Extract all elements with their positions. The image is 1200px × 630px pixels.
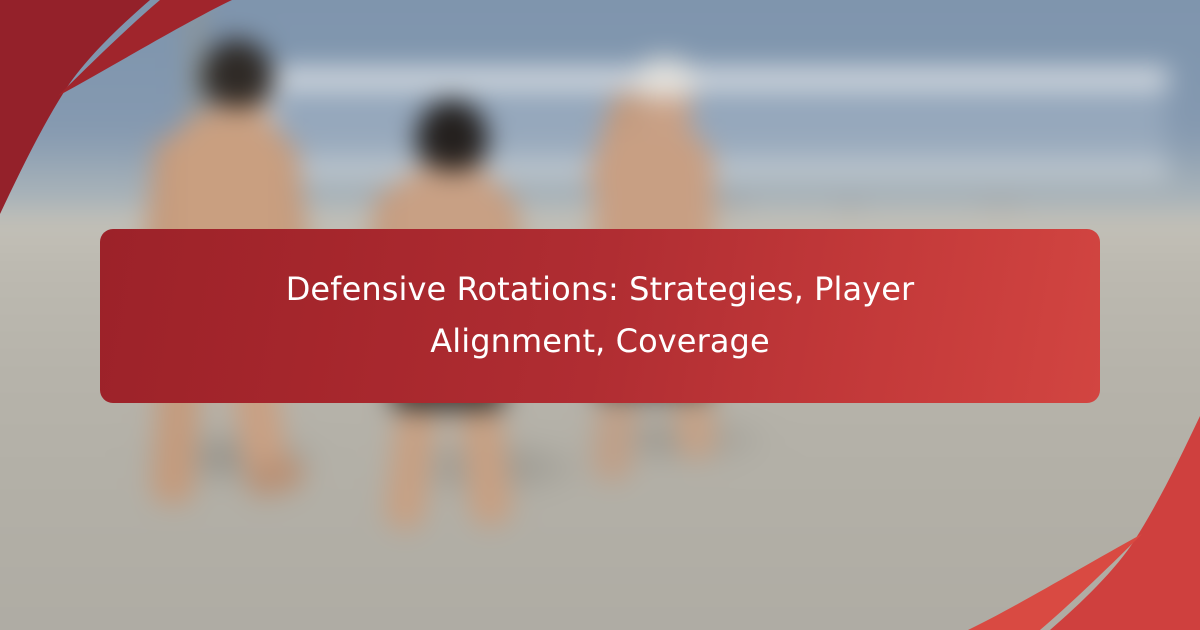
page-title: Defensive Rotations: Strategies, Player … <box>250 264 950 368</box>
player-right-cap <box>634 58 696 98</box>
volleyball-net-mesh <box>276 89 1166 164</box>
distant-beach-objects <box>700 192 1130 218</box>
hero-card: Defensive Rotations: Strategies, Player … <box>0 0 1200 630</box>
title-banner: Defensive Rotations: Strategies, Player … <box>100 229 1100 403</box>
volleyball-net-top-tape <box>258 68 1168 89</box>
